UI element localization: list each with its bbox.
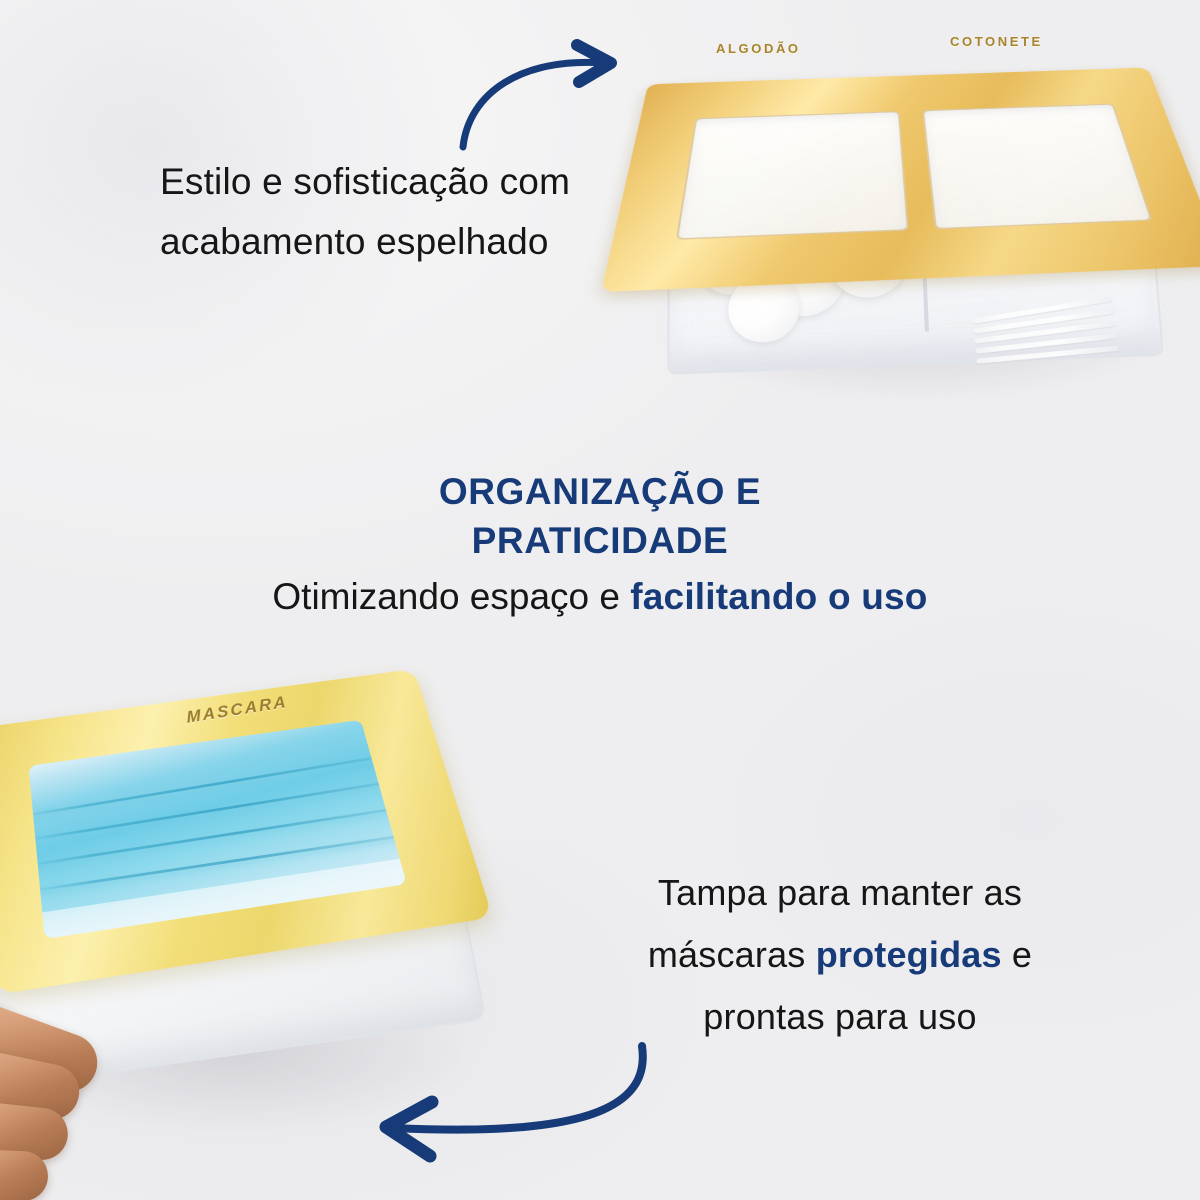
organizer-label-algodao: ALGODÃO (716, 41, 801, 56)
maskbox-window (29, 720, 407, 939)
curved-arrow-right-icon (455, 35, 645, 160)
caption-top-line1: Estilo e sofisticação com (160, 152, 630, 212)
caption-style-sophistication: Estilo e sofisticação com acabamento esp… (160, 152, 630, 272)
product-feature-banner: ALGODÃO COTONETE Estilo e sofisticação c… (0, 0, 1200, 1200)
caption-bottom-line1: Tampa para manter as (590, 862, 1090, 924)
headline-block: ORGANIZAÇÃO E PRATICIDADE Otimizando esp… (0, 468, 1200, 621)
headline-line1: ORGANIZAÇÃO E (0, 468, 1200, 517)
headline-subtitle-prefix: Otimizando espaço e (272, 576, 630, 617)
headline-subtitle: Otimizando espaço e facilitando o uso (0, 573, 1200, 621)
caption-bottom-line2-suffix: e (1002, 934, 1032, 975)
caption-bottom-line2: máscaras protegidas e (590, 924, 1090, 986)
organizer-gold-lid (601, 68, 1200, 293)
caption-bottom-line3: prontas para uso (590, 986, 1090, 1048)
caption-lid-protection: Tampa para manter as máscaras protegidas… (590, 862, 1090, 1048)
caption-bottom-line2-prefix: máscaras (648, 934, 816, 975)
mask-bottom-edge (29, 854, 407, 939)
product-image-organizer-tray: ALGODÃO COTONETE (620, 8, 1200, 408)
hand-holding-lid (0, 1010, 210, 1200)
surgical-mask (29, 720, 407, 939)
headline-line2: PRATICIDADE (0, 517, 1200, 566)
headline-subtitle-highlight: facilitando o uso (630, 576, 927, 617)
caption-bottom-line2-highlight: protegidas (816, 934, 1002, 975)
caption-top-line2: acabamento espelhado (160, 212, 630, 272)
organizer-label-cotonete: COTONETE (950, 34, 1043, 49)
cotton-swab-stack (972, 298, 1134, 400)
